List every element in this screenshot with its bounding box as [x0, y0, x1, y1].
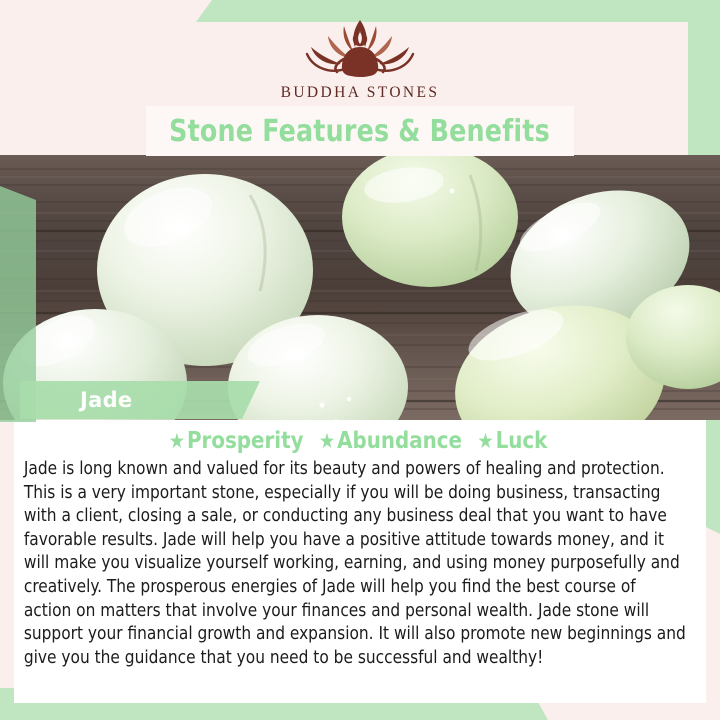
- title-banner: Stone Features & Benefits: [146, 106, 574, 156]
- stone-name-label: Jade: [80, 388, 132, 412]
- content-card: ★Prosperity★Abundance★Luck Jade is long …: [14, 420, 706, 703]
- stone-info-card: BUDDHA STONES Stone Features & Benefits: [0, 0, 720, 720]
- stone-description: Jade is long known and valued for its be…: [14, 454, 696, 670]
- jade-stones-photo: [0, 155, 720, 420]
- brand-name: BUDDHA STONES: [281, 84, 440, 102]
- star-icon: ★: [319, 429, 335, 453]
- star-icon: ★: [477, 429, 493, 453]
- lotus-meditation-icon: [297, 14, 423, 82]
- benefit-item-2: Luck: [496, 428, 548, 454]
- brand-logo: BUDDHA STONES: [0, 14, 720, 102]
- benefit-item-1: Abundance: [337, 428, 462, 454]
- page-title: Stone Features & Benefits: [170, 114, 551, 149]
- benefits-list: ★Prosperity★Abundance★Luck: [28, 420, 692, 454]
- benefit-item-0: Prosperity: [187, 428, 304, 454]
- stone-name-band: Jade: [20, 381, 260, 419]
- star-icon: ★: [169, 429, 185, 453]
- hero-image: [0, 155, 720, 420]
